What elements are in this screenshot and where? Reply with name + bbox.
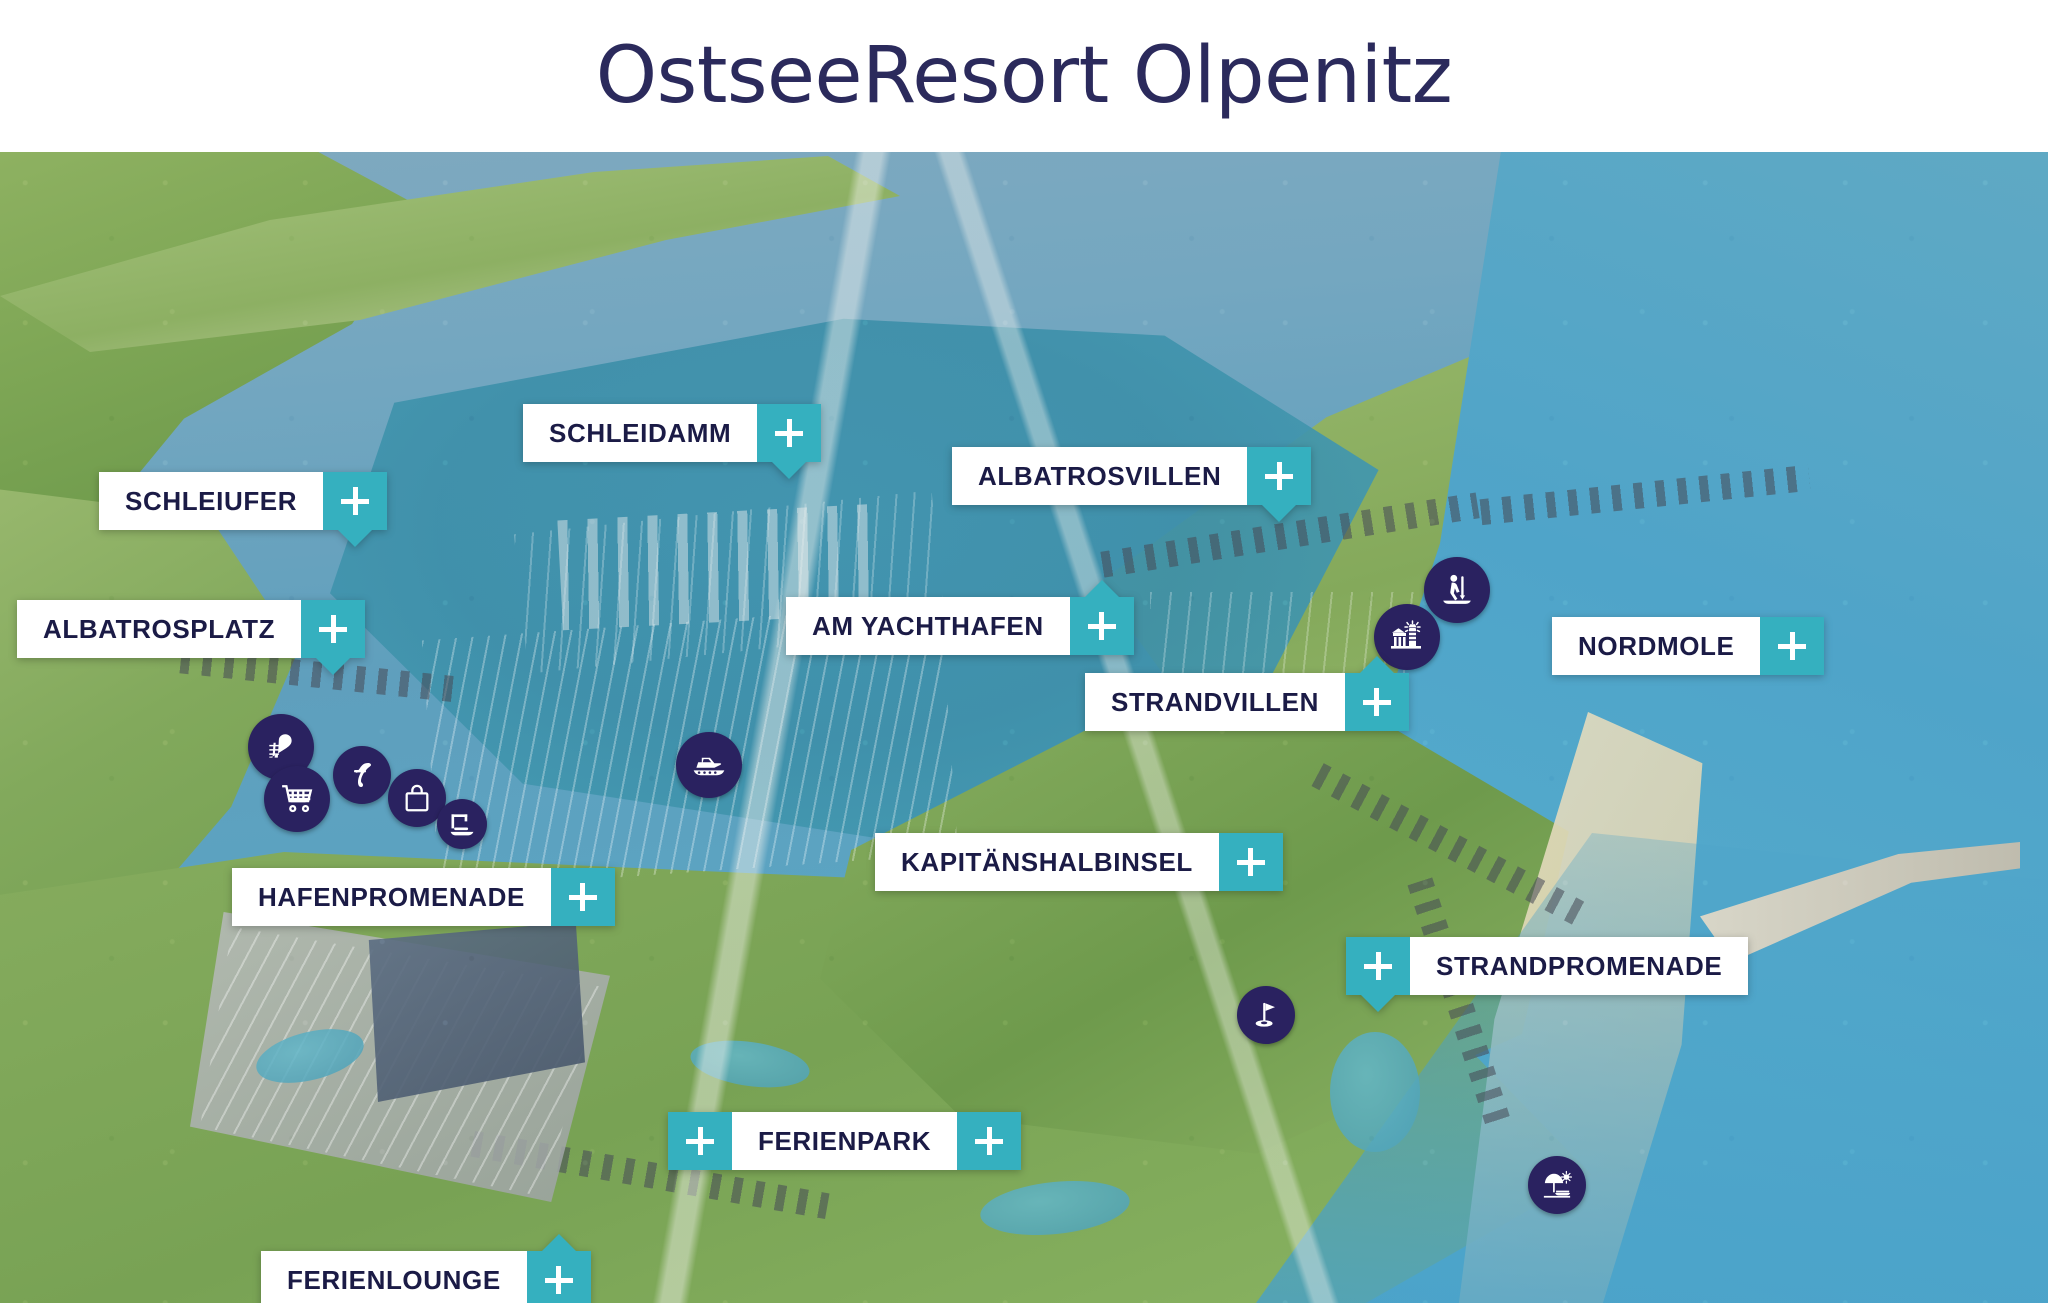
marker-label[interactable]: HAFENPROMENADE xyxy=(232,868,551,926)
pointer-triangle-down xyxy=(1262,505,1296,522)
marker-label[interactable]: SCHLEIUFER xyxy=(99,472,323,530)
shopping-cart-icon[interactable] xyxy=(264,766,330,832)
marker-chip-nordmole[interactable]: NORDMOLE xyxy=(1552,617,1824,675)
marker-label-text: FERIENLOUNGE xyxy=(287,1265,501,1296)
marker-chip-schleiufer[interactable]: SCHLEIUFER xyxy=(99,472,387,530)
plus-icon[interactable] xyxy=(668,1112,732,1170)
marker-label-text: SCHLEIUFER xyxy=(125,486,297,517)
marker-label-text: FERIENPARK xyxy=(758,1126,931,1157)
golf-flag-icon[interactable] xyxy=(1237,986,1295,1044)
marker-chip-am-yachthafen[interactable]: AM YACHTHAFEN xyxy=(786,597,1134,655)
marker-label[interactable]: STRANDVILLEN xyxy=(1085,673,1345,731)
pointer-triangle-down xyxy=(1361,995,1395,1012)
marker-label-text: ALBATROSVILLEN xyxy=(978,461,1221,492)
pointer-triangle-down xyxy=(772,462,806,479)
marker-label[interactable]: AM YACHTHAFEN xyxy=(786,597,1070,655)
marker-chip-schleidamm[interactable]: SCHLEIDAMM xyxy=(523,404,821,462)
f-logo-icon[interactable] xyxy=(333,746,391,804)
marker-chip-albatrosvillen[interactable]: ALBATROSVILLEN xyxy=(952,447,1311,505)
marker-label[interactable]: STRANDPROMENADE xyxy=(1410,937,1748,995)
marker-label[interactable]: ALBATROSVILLEN xyxy=(952,447,1247,505)
resort-aerial-map[interactable]: SCHLEIDAMMSCHLEIUFERALBATROSVILLENALBATR… xyxy=(0,152,2048,1303)
map-page: OstseeResort Olpenitz SCH xyxy=(0,0,2048,1303)
marker-chip-kapitaenshalbinsel[interactable]: KAPITÄNSHALBINSEL xyxy=(875,833,1283,891)
plus-icon[interactable] xyxy=(1219,833,1283,891)
plus-icon[interactable] xyxy=(957,1112,1021,1170)
marker-label[interactable]: SCHLEIDAMM xyxy=(523,404,757,462)
plus-icon[interactable] xyxy=(757,404,821,462)
plus-icon[interactable] xyxy=(551,868,615,926)
marker-label-text: HAFENPROMENADE xyxy=(258,882,525,913)
pointer-triangle-up xyxy=(1085,580,1119,597)
beach-umbrella-icon[interactable] xyxy=(1528,1156,1586,1214)
plus-icon[interactable] xyxy=(1345,673,1409,731)
plus-icon[interactable] xyxy=(323,472,387,530)
plus-icon[interactable] xyxy=(1760,617,1824,675)
plus-icon[interactable] xyxy=(301,600,365,658)
marker-label-text: SCHLEIDAMM xyxy=(549,418,731,449)
pointer-triangle-down xyxy=(338,530,372,547)
marker-label-text: KAPITÄNSHALBINSEL xyxy=(901,847,1193,878)
pond xyxy=(1330,1032,1420,1152)
marker-label-text: STRANDPROMENADE xyxy=(1436,951,1722,982)
marker-chip-ferienlounge[interactable]: FERIENLOUNGE xyxy=(261,1251,591,1303)
marker-label-text: ALBATROSPLATZ xyxy=(43,614,275,645)
marker-label[interactable]: ALBATROSPLATZ xyxy=(17,600,301,658)
boat-ramp-icon[interactable] xyxy=(437,799,487,849)
page-title: OstseeResort Olpenitz xyxy=(596,31,1452,121)
marker-label[interactable]: FERIENLOUNGE xyxy=(261,1251,527,1303)
marker-chip-albatrosplatz[interactable]: ALBATROSPLATZ xyxy=(17,600,365,658)
plus-icon[interactable] xyxy=(527,1251,591,1303)
marker-chip-ferienpark[interactable]: FERIENPARK xyxy=(668,1112,1021,1170)
marker-label-text: NORDMOLE xyxy=(1578,631,1734,662)
pointer-triangle-up xyxy=(1360,656,1394,673)
motorboat-icon[interactable] xyxy=(676,732,742,798)
marker-chip-hafenpromenade[interactable]: HAFENPROMENADE xyxy=(232,868,615,926)
marker-label-text: STRANDVILLEN xyxy=(1111,687,1319,718)
page-header: OstseeResort Olpenitz xyxy=(0,0,2048,152)
marker-label[interactable]: FERIENPARK xyxy=(732,1112,957,1170)
marker-label[interactable]: NORDMOLE xyxy=(1552,617,1760,675)
plus-icon[interactable] xyxy=(1346,937,1410,995)
pointer-triangle-up xyxy=(542,1234,576,1251)
marker-label[interactable]: KAPITÄNSHALBINSEL xyxy=(875,833,1219,891)
paddleboard-icon[interactable] xyxy=(1424,557,1490,623)
marker-label-text: AM YACHTHAFEN xyxy=(812,611,1044,642)
marker-chip-strandpromenade[interactable]: STRANDPROMENADE xyxy=(1346,937,1748,995)
marker-chip-strandvillen[interactable]: STRANDVILLEN xyxy=(1085,673,1409,731)
plus-icon[interactable] xyxy=(1070,597,1134,655)
pointer-triangle-down xyxy=(316,658,350,675)
plus-icon[interactable] xyxy=(1247,447,1311,505)
